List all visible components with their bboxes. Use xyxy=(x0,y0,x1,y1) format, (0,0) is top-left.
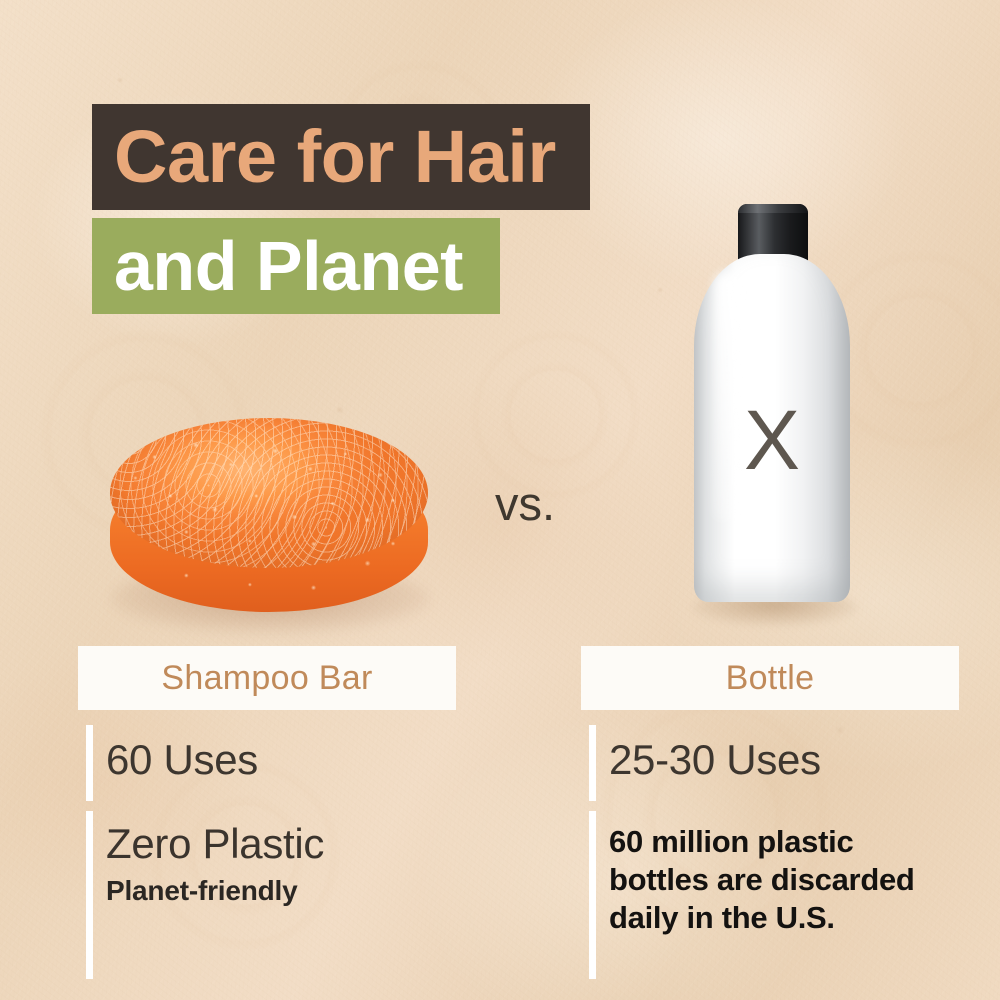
bottle-fact-waste: 60 million plastic bottles are discarded… xyxy=(581,811,959,979)
infographic-poster: Care for Hair and Planet vs. X Shampoo B… xyxy=(0,0,1000,1000)
accent-bar xyxy=(589,725,596,801)
column-shampoo-bar: Shampoo Bar 60 Uses Zero Plastic Planet-… xyxy=(78,646,456,979)
shampoo-bar-fine-texture xyxy=(110,418,428,568)
accent-bar xyxy=(86,811,93,979)
accent-bar xyxy=(86,725,93,801)
title-banner-line-1: Care for Hair xyxy=(92,104,590,210)
shampoo-bar-top xyxy=(110,418,428,568)
bottle-name-plate: Bottle xyxy=(581,646,959,710)
bottle-uses-headline: 25-30 Uses xyxy=(609,725,959,781)
column-bottle: Bottle 25-30 Uses 60 million plastic bot… xyxy=(581,646,959,979)
shampoo-bar-speckle-texture xyxy=(110,418,428,568)
bottle-waste-paragraph: 60 million plastic bottles are discarded… xyxy=(609,811,959,936)
title-banner-line-2: and Planet xyxy=(92,218,500,314)
shampoo-bar-plastic-subtext: Planet-friendly xyxy=(106,865,456,905)
shampoo-bar-uses-headline: 60 Uses xyxy=(106,725,456,781)
accent-bar xyxy=(589,811,596,979)
shampoo-bar-fact-plastic: Zero Plastic Planet-friendly xyxy=(78,811,456,979)
title-line-2-text: and Planet xyxy=(114,231,463,301)
bottle-x-mark: X xyxy=(690,398,854,482)
versus-label: vs. xyxy=(495,476,555,531)
bottle-name: Bottle xyxy=(726,659,815,698)
shampoo-bar-plastic-headline: Zero Plastic xyxy=(106,811,456,865)
shampoo-bar-image xyxy=(96,404,441,649)
floral-motif xyxy=(470,330,640,500)
shampoo-bar-name: Shampoo Bar xyxy=(161,659,372,698)
shampoo-bar-fact-uses: 60 Uses xyxy=(78,725,456,801)
title-line-1-text: Care for Hair xyxy=(114,120,556,194)
bottle-fact-uses: 25-30 Uses xyxy=(581,725,959,801)
plastic-bottle-image: X xyxy=(690,192,860,647)
shampoo-bar-name-plate: Shampoo Bar xyxy=(78,646,456,710)
